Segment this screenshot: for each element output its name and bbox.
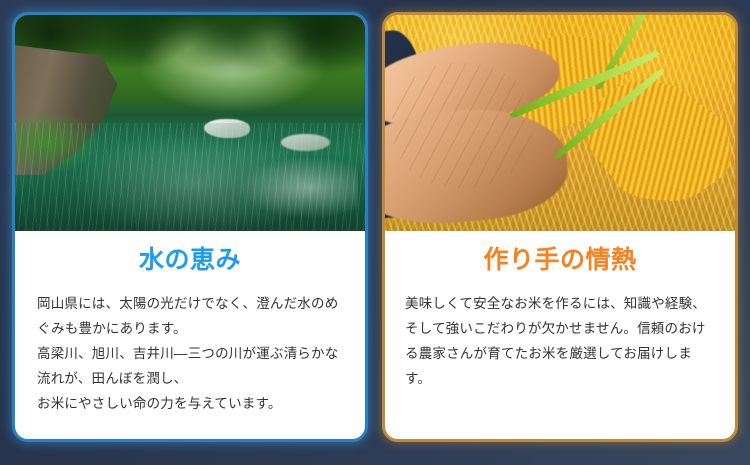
rice-ears-in-hands-photo bbox=[385, 15, 735, 231]
rice-field-scene-art bbox=[385, 15, 735, 231]
water-sparkle-art bbox=[197, 136, 358, 222]
card-body-passion: 作り手の情熱 美味しくて安全なお米を作るには、知識や経験、そして強いこだわりが欠… bbox=[385, 231, 735, 391]
finger-detail-art bbox=[392, 63, 532, 188]
card-text-passion: 美味しくて安全なお米を作るには、知識や経験、そして強いこだわりが欠かせません。信… bbox=[405, 291, 715, 391]
card-text-water: 岡山県には、太陽の光だけでなく、澄んだ水のめぐみも豊かにあります。 高梁川、旭川… bbox=[35, 291, 345, 416]
river-scene-art bbox=[15, 15, 365, 231]
card-title-passion: 作り手の情熱 bbox=[405, 247, 715, 275]
card-water-blessing[interactable]: 水の恵み 岡山県には、太陽の光だけでなく、澄んだ水のめぐみも豊かにあります。 高… bbox=[12, 12, 368, 442]
card-growers-passion[interactable]: 作り手の情熱 美味しくて安全なお米を作るには、知識や経験、そして強いこだわりが欠… bbox=[382, 12, 738, 442]
card-body-water: 水の恵み 岡山県には、太陽の光だけでなく、澄んだ水のめぐみも豊かにあります。 高… bbox=[15, 231, 365, 416]
card-title-water: 水の恵み bbox=[35, 247, 345, 275]
forest-river-photo bbox=[15, 15, 365, 231]
promo-banner: 水の恵み 岡山県には、太陽の光だけでなく、澄んだ水のめぐみも豊かにあります。 高… bbox=[0, 0, 750, 465]
